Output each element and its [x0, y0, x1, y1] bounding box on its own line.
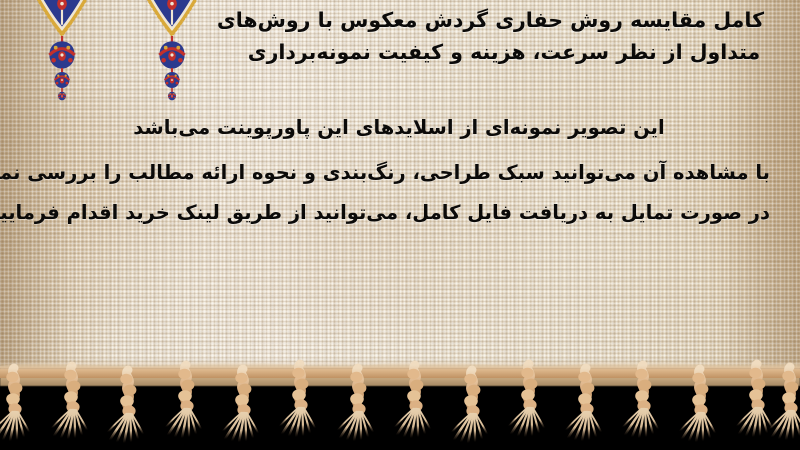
ornament-group	[0, 0, 250, 110]
slide-body-line-1: این تصویر نمونه‌ای از اسلایدهای این پاور…	[28, 108, 770, 149]
slide-title: کامل مقایسه روش حفاری گردش معکوس با روش‌…	[244, 4, 764, 69]
slide-body: این تصویر نمونه‌ای از اسلایدهای این پاور…	[28, 108, 770, 234]
slide-title-line-1: کامل مقایسه روش حفاری گردش معکوس با روش‌…	[244, 4, 764, 36]
slide-title-line-2: متداول از نظر سرعت، هزینه و کیفیت نمونه‌…	[244, 36, 764, 68]
slide-body-line-2: با مشاهده آن می‌توانید سبک طراحی، رنگ‌بن…	[28, 153, 770, 194]
slide-canvas: کامل مقایسه روش حفاری گردش معکوس با روش‌…	[0, 0, 800, 450]
slide-body-line-3: در صورت تمایل به دریافت فایل کامل، می‌تو…	[28, 193, 770, 234]
persian-carpet-pendant-medallion-icon	[16, 0, 108, 104]
persian-carpet-pendant-medallion-icon-2	[126, 0, 218, 104]
carpet-fringe-tassels	[0, 352, 800, 450]
